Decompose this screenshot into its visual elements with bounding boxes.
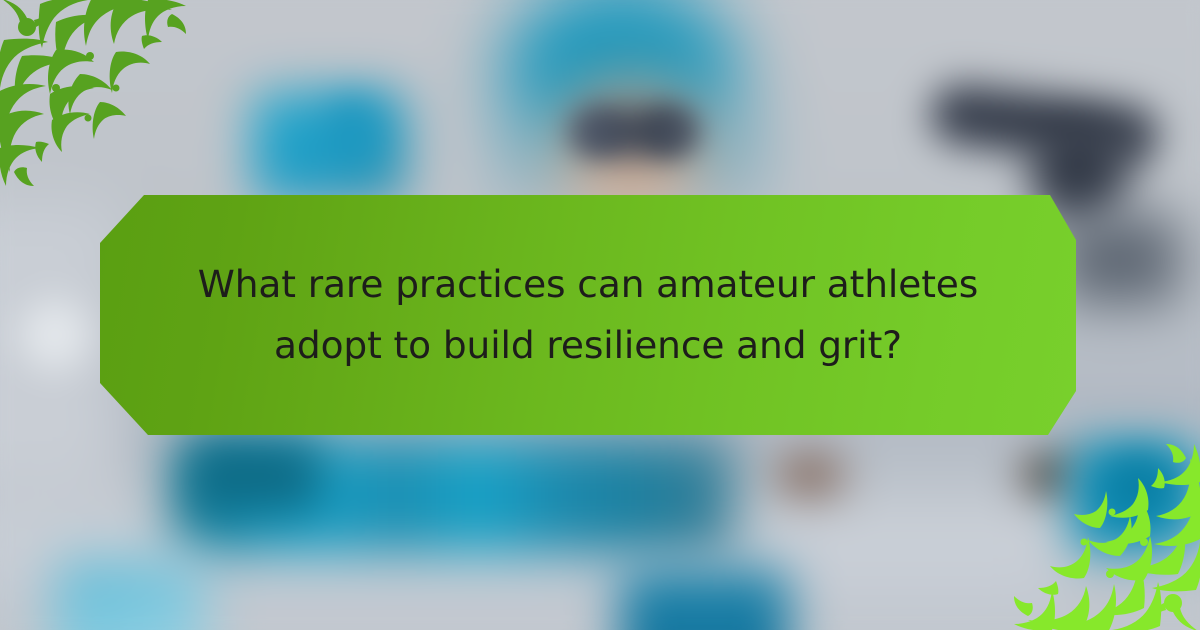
- photo-blob-rack-shadow: [190, 440, 320, 510]
- photo-blob-beaker-center: [620, 570, 790, 630]
- question-text: What rare practices can amateur athletes…: [158, 254, 1018, 376]
- question-banner: What rare practices can amateur athletes…: [100, 195, 1076, 435]
- photo-blob-white-object: [20, 300, 90, 370]
- photo-blob-flask-left: [55, 560, 205, 630]
- photo-blob-bottle-neck: [330, 100, 376, 154]
- question-card: What rare practices can amateur athletes…: [0, 0, 1200, 630]
- photo-blob-brown-smudge: [775, 455, 845, 495]
- photo-blob-microscope-base: [1060, 215, 1180, 305]
- photo-blob-goggles: [570, 108, 698, 156]
- photo-blob-flask-right-core: [1105, 455, 1175, 515]
